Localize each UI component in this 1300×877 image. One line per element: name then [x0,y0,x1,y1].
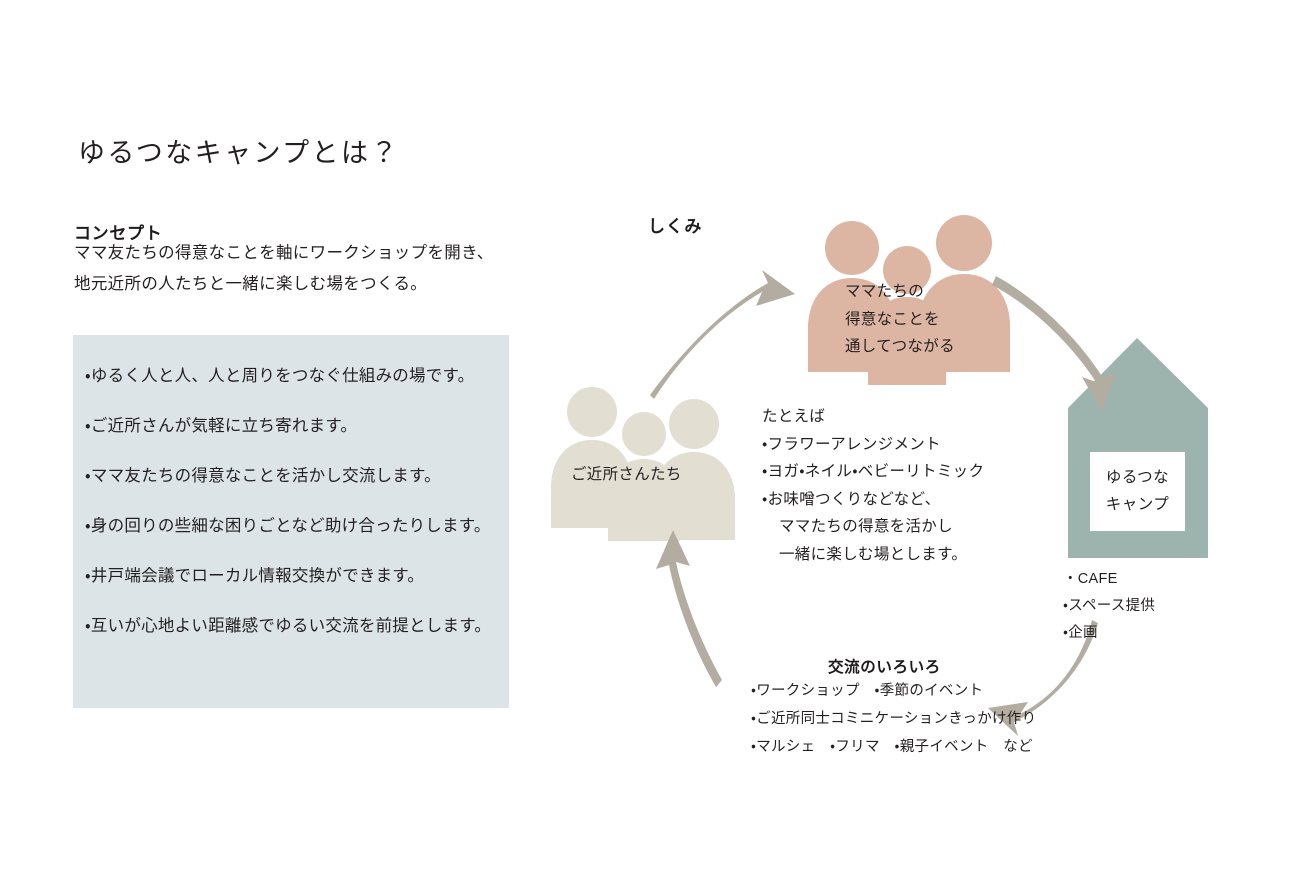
list-item: ・ヨガ・ネイル・ベビーリトミック [762,458,984,486]
mamas-group-label: ママたちの 得意なことを 通してつながる [845,278,955,361]
infographic-page: ゆるつなキャンプとは？ コンセプト ママ友たちの得意なことを軸にワークショップを… [0,0,1300,877]
list-item: ・ご近所同士コミニケーションきっかけ作り [751,705,1036,733]
list-item: ・ゆるく人と人、人と周りをつなぐ仕組みの場です。 [85,368,515,385]
list-item: 一緒に楽しむ場とします。 [762,541,984,569]
list-item: ・スペース提供 [1063,593,1155,620]
list-item: ・身の回りの些細な困りごとなど助け合ったりします。 [85,518,515,535]
house-label-line: キャンプ [1106,492,1169,519]
list-item: ・お味噌つくりなどなど、 [762,486,984,514]
house-label: ゆるつな キャンプ [1090,452,1185,531]
neighbors-group-label: ご近所さんたち [571,461,682,489]
features-list: ・ゆるく人と人、人と周りをつなぐ仕組みの場です。 ・ご近所さんが気軽に立ち寄れま… [85,368,515,668]
mamas-label-line: 得意なことを [845,306,955,334]
mamas-label-line: 通してつながる [845,333,955,361]
examples-intro: たとえば [762,403,984,431]
list-item: ・企画 [1063,620,1155,647]
list-item: ・互いが心地よい距離感でゆるい交流を前提とします。 [85,618,515,635]
arrow-up-left [656,530,722,687]
list-item: ・フラワーアレンジメント [762,431,984,459]
exchange-list: ・ワークショップ ・季節のイベント ・ご近所同士コミニケーションきっかけ作り ・… [751,677,1036,761]
list-item: ・マルシェ ・フリマ ・親子イベント など [751,733,1036,761]
exchange-heading: 交流のいろいろ [828,655,941,677]
examples-list: たとえば ・フラワーアレンジメント ・ヨガ・ネイル・ベビーリトミック ・お味噌つ… [762,403,984,568]
concept-body-line: ママ友たちの得意なことを軸にワークショップを開き、 [74,238,534,269]
mamas-label-line: ママたちの [845,278,955,306]
arrow-up-right [650,270,795,399]
arrow-down-right [992,276,1116,412]
house-label-line: ゆるつな [1106,465,1169,492]
list-item: ・CAFE [1063,566,1155,593]
concept-body-line: 地元近所の人たちと一緒に楽しむ場をつくる。 [74,269,534,300]
list-item: ・ご近所さんが気軽に立ち寄れます。 [85,418,515,435]
page-title: ゆるつなキャンプとは？ [78,131,400,170]
list-item: ・ワークショップ ・季節のイベント [751,677,1036,705]
list-item: ママたちの得意を活かし [762,513,984,541]
house-services-list: ・CAFE ・スペース提供 ・企画 [1063,566,1155,646]
list-item: ・ママ友たちの得意なことを活かし交流します。 [85,468,515,485]
list-item: ・井戸端会議でローカル情報交換ができます。 [85,568,515,585]
concept-body: ママ友たちの得意なことを軸にワークショップを開き、 地元近所の人たちと一緒に楽し… [74,238,534,299]
